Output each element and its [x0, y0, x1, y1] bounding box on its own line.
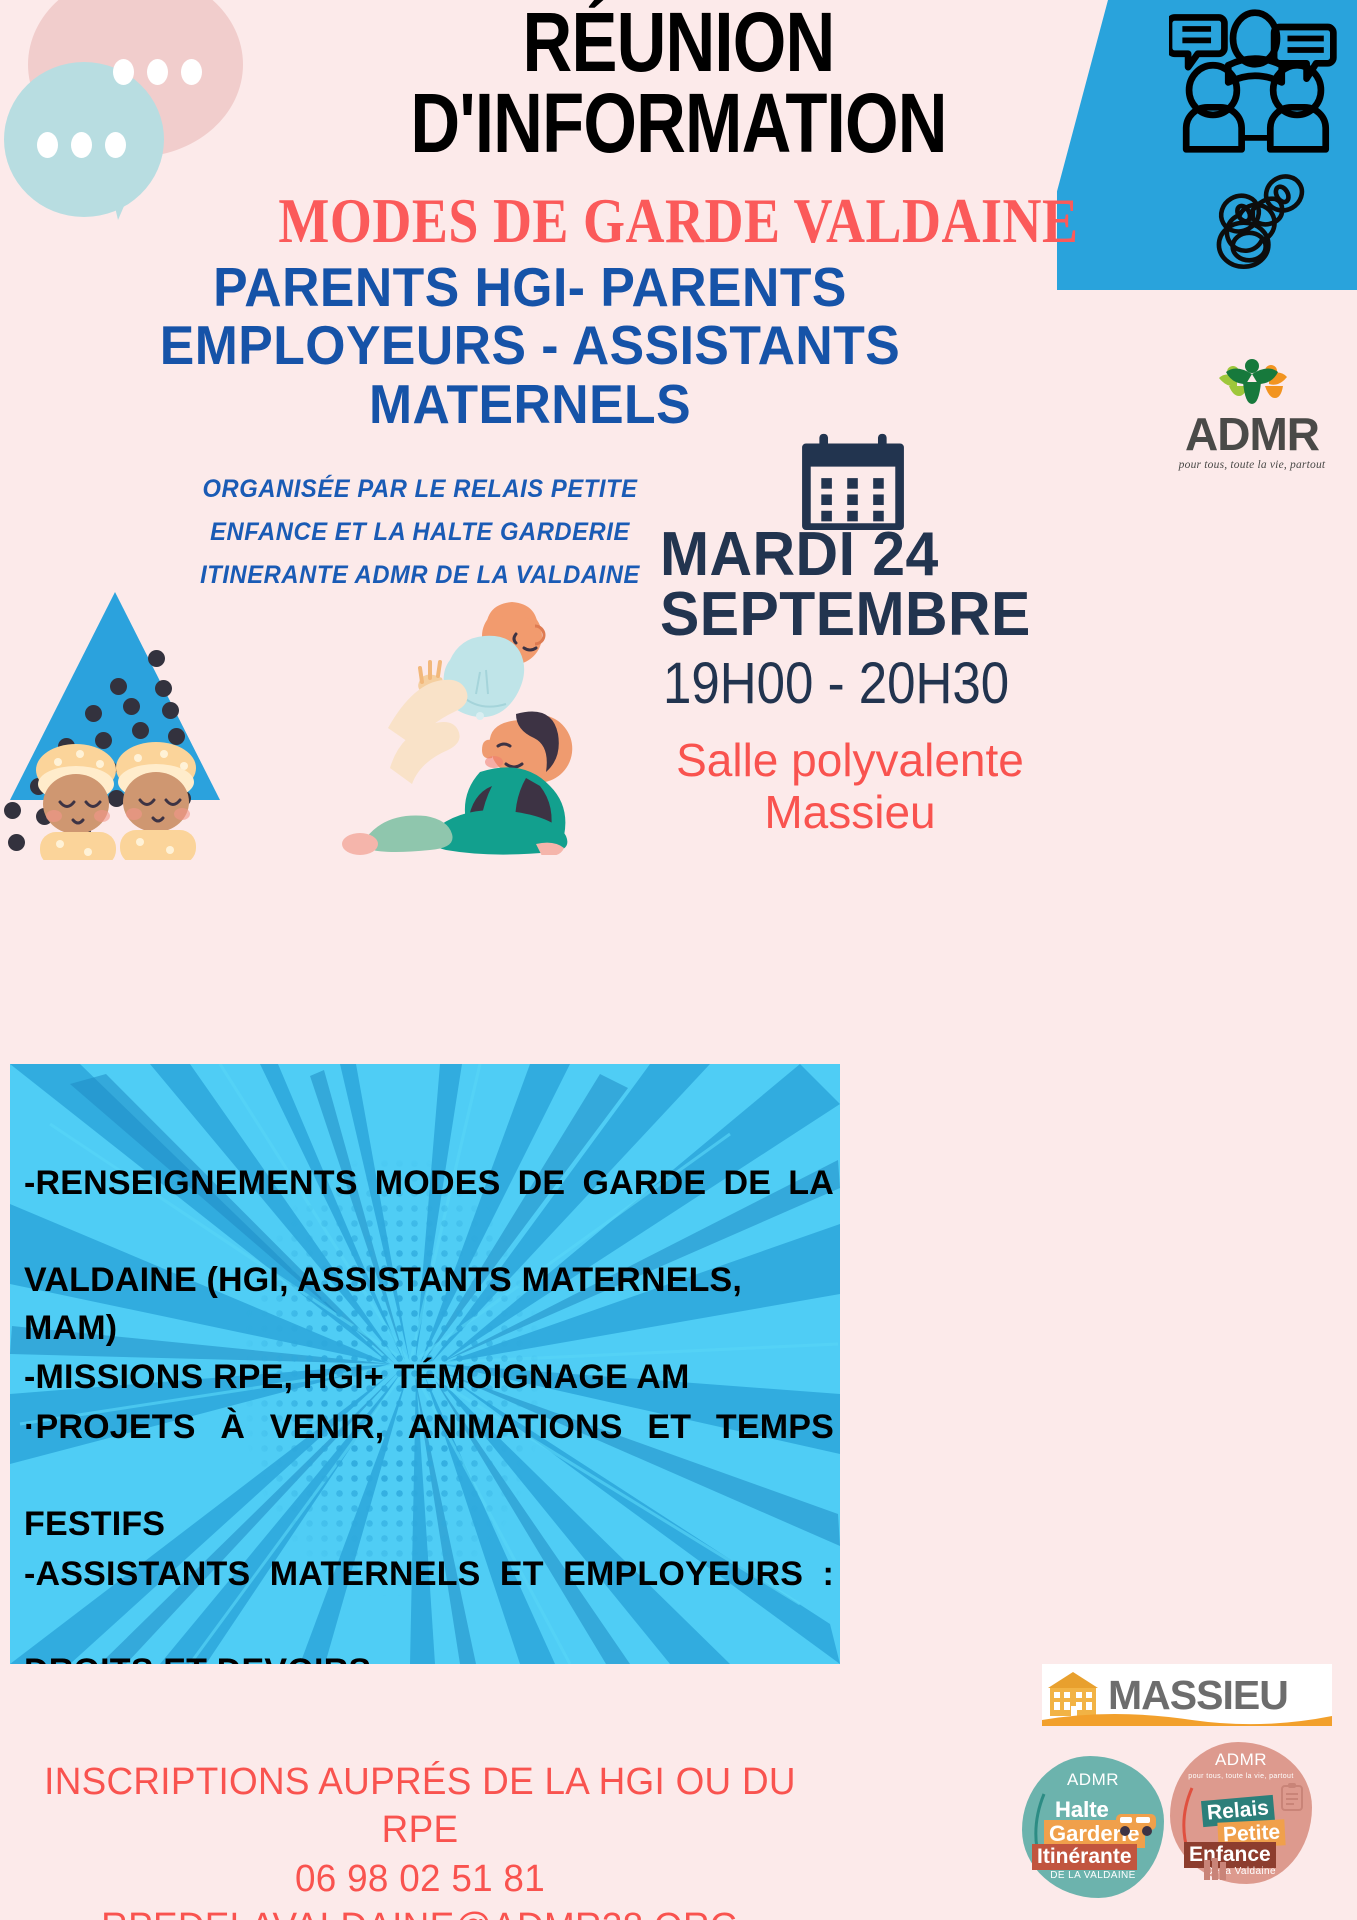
rpe-admr-word: ADMR [1170, 1750, 1312, 1770]
subtitle-blue-line-2: EMPLOYEURS - ASSISTANTS [145, 316, 916, 374]
subtitle-blue-line-3: MATERNELS [145, 375, 916, 433]
twin-babies-illustration [18, 740, 218, 860]
contact-phone: 06 98 02 51 81 [13, 1855, 828, 1903]
organiser-line-3: ITINERANTE ADMR DE LA VALDAINE [197, 554, 644, 597]
list-item: -RENSEIGNEMENTS MODES DE GARDE DE LA [24, 1160, 834, 1255]
father-and-baby-illustration [330, 600, 630, 855]
venue-line-2: Massieu [620, 787, 1080, 839]
event-date-line-2: SEPTEMBRE [660, 585, 1059, 645]
venue-line-1: Salle polyvalente [620, 735, 1080, 787]
hgi-admr-word: ADMR [1022, 1770, 1164, 1790]
list-item: DROITS ET DEVOIRS [24, 1648, 834, 1664]
event-date-line-1: MARDI 24 [660, 525, 1059, 585]
halte-garderie-logo: ADMR Halte Garderie Itinérante DE LA VAL… [1022, 1756, 1164, 1898]
rpe-admr-tagline: pour tous, toute la vie, partout [1170, 1772, 1312, 1783]
admr-logo: ADMR pour tous, toute la vie, partout [1172, 358, 1332, 471]
van-icon [1114, 1810, 1158, 1838]
calendar-icon [800, 432, 906, 530]
rpe-sublabel: De la Valdaine [1170, 1866, 1312, 1877]
organiser-line-2: ENFANCE ET LA HALTE GARDERIE [197, 511, 644, 554]
event-date: MARDI 24 SEPTEMBRE [660, 525, 1059, 645]
relais-petite-enfance-logo: ADMR pour tous, toute la vie, partout Re… [1170, 1742, 1312, 1884]
hgi-label-itinerante: Itinérante [1032, 1844, 1137, 1870]
hgi-sublabel: DE LA VALDAINE [1022, 1870, 1164, 1881]
subtitle-blue: PARENTS HGI- PARENTS EMPLOYEURS - ASSIST… [145, 258, 916, 433]
massieu-logo: MASSIEU [1042, 1664, 1332, 1726]
admr-logo-word: ADMR [1172, 411, 1332, 457]
books-icon [1202, 1856, 1228, 1882]
poster-canvas: RÉUNION D'INFORMATION MODES DE GARDE VAL… [0, 0, 1357, 1920]
program-list: -RENSEIGNEMENTS MODES DE GARDE DE LA VAL… [24, 1160, 834, 1664]
rpe-label-enfance: Enfance [1184, 1842, 1276, 1868]
clipboard-icon [1280, 1782, 1304, 1812]
list-item: FESTIFS [24, 1501, 834, 1549]
list-item: ·PROJETS À VENIR, ANIMATIONS ET TEMPS [24, 1404, 834, 1499]
list-item: VALDAINE (HGI, ASSISTANTS MATERNELS, MAM… [24, 1257, 834, 1352]
contact-email: RPEDELAVALDAINE@ADMR38.ORG [13, 1903, 828, 1920]
list-item: -MISSIONS RPE, HGI+ TÉMOIGNAGE AM [24, 1354, 834, 1402]
admr-figures-icon [1209, 358, 1295, 406]
admr-logo-tagline: pour tous, toute la vie, partout [1172, 459, 1332, 471]
event-time: 19H00 - 20H30 [663, 655, 1033, 713]
contact-line-1: INSCRIPTIONS AUPRÉS DE LA HGI OU DU RPE [13, 1758, 828, 1855]
title-line-1: RÉUNION [122, 2, 1235, 83]
program-panel: -RENSEIGNEMENTS MODES DE GARDE DE LA VAL… [10, 1064, 840, 1664]
title-line-2: D'INFORMATION [122, 83, 1235, 164]
subtitle-red: MODES DE GARDE VALDAINE [0, 184, 1357, 257]
massieu-wave-icon [1042, 1710, 1332, 1726]
event-venue: Salle polyvalente Massieu [620, 735, 1080, 838]
organiser-text: ORGANISÉE PAR LE RELAIS PETITE ENFANCE E… [197, 468, 644, 597]
list-item: -ASSISTANTS MATERNELS ET EMPLOYEURS : [24, 1551, 834, 1646]
subtitle-blue-line-1: PARENTS HGI- PARENTS [145, 258, 916, 316]
page-title: RÉUNION D'INFORMATION [122, 2, 1235, 163]
contact-info: INSCRIPTIONS AUPRÉS DE LA HGI OU DU RPE … [13, 1758, 828, 1920]
speech-bubble-blue-dots-icon [37, 132, 126, 158]
organiser-line-1: ORGANISÉE PAR LE RELAIS PETITE [197, 468, 644, 511]
